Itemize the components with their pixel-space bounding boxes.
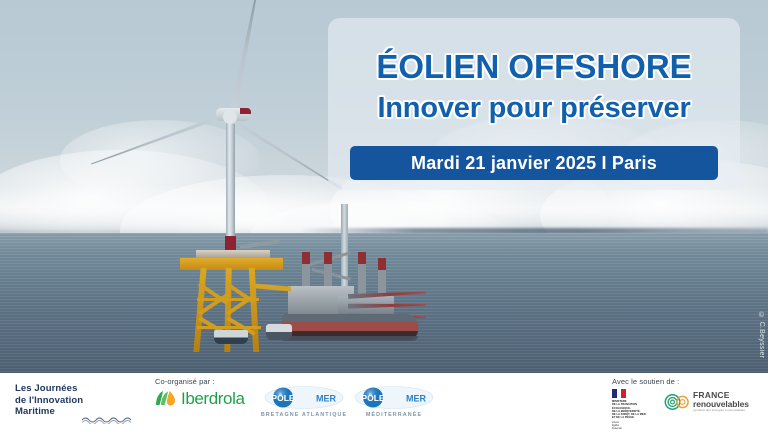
platform-crane-icon xyxy=(240,239,280,249)
svg-text:MER: MER xyxy=(316,394,337,404)
france-renouvelables-logo[interactable]: FRANCE renouvelables syndicat des énergi… xyxy=(664,391,749,412)
iberdrola-logo[interactable]: Iberdrola xyxy=(155,389,245,409)
pole-mer-region-label: MÉDITERRANÉE xyxy=(366,412,422,418)
france-renouvelables-wordmark: FRANCE renouvelables syndicat des énergi… xyxy=(693,391,749,412)
nacelle-marking xyxy=(240,108,251,114)
event-date-badge: Mardi 21 janvier 2025 I Paris xyxy=(350,146,718,180)
iberdrola-leaf-flame-icon xyxy=(155,389,177,409)
svg-text:PÔLE: PÔLE xyxy=(271,392,294,403)
ministry-logo[interactable]: MINISTÈRE DE LA TRANSITION ÉCOLOGIQUE, D… xyxy=(612,389,656,431)
event-banner: © C.Beyssier ÉOLIEN OFFSHORE Innover pou… xyxy=(0,0,768,432)
event-date-text: Mardi 21 janvier 2025 I Paris xyxy=(411,153,657,174)
turbine-blade xyxy=(227,116,343,190)
pole-mer-bretagne-logo[interactable]: PÔLE MER BRETAGNE ATLANTIQUE xyxy=(262,385,346,425)
organizer-line-3: Maritime xyxy=(15,406,83,418)
coorganiser-block: Co-organisé par : Iberdrola xyxy=(155,377,215,386)
title-panel: ÉOLIEN OFFSHORE Innover pour préserver M… xyxy=(328,18,740,190)
pole-mer-badge: PÔLE MER xyxy=(354,385,434,410)
jacket-leg xyxy=(249,268,259,352)
republic-motto: LibertéÉgalitéFraternité xyxy=(612,422,656,431)
support-block: Avec le soutien de : MINISTÈRE DE LA TRA… xyxy=(612,377,679,386)
fr-line-2: renouvelables xyxy=(693,400,749,409)
crew-transfer-vessel xyxy=(214,330,248,344)
wave-squiggle-icon xyxy=(82,416,134,424)
page-title: ÉOLIEN OFFSHORE xyxy=(328,48,740,86)
ministry-name: MINISTÈRE DE LA TRANSITION ÉCOLOGIQUE, D… xyxy=(612,400,656,420)
french-flag-icon xyxy=(612,389,626,398)
jacket-brace xyxy=(197,298,259,301)
pole-mer-droplet-icon: PÔLE MER xyxy=(264,385,344,410)
turbine-tower-band xyxy=(225,236,236,250)
pole-mer-region-label: BRETAGNE ATLANTIQUE xyxy=(261,412,347,418)
turbine-blade xyxy=(90,112,229,166)
organizer-logo[interactable]: Les Journées de l'Innovation Maritime xyxy=(15,383,83,418)
organizer-line-1: Les Journées xyxy=(15,383,83,395)
support-label: Avec le soutien de : xyxy=(612,377,679,386)
iberdrola-wordmark: Iberdrola xyxy=(181,389,245,409)
jacket-brace xyxy=(197,326,261,329)
svg-text:MER: MER xyxy=(406,394,427,404)
ministry-line: ET DE LA PÊCHE xyxy=(612,416,656,419)
turbine-blade xyxy=(229,0,259,117)
pole-mer-mediterranee-logo[interactable]: PÔLE MER MÉDITERRANÉE xyxy=(352,385,436,425)
organizer-line-2: de l'Innovation xyxy=(15,395,83,407)
photo-credit: © C.Beyssier xyxy=(758,312,765,358)
coorganiser-label: Co-organisé par : xyxy=(155,377,215,386)
infinity-loop-icon xyxy=(664,393,690,411)
fr-tagline: syndicat des énergies renouvelables xyxy=(693,409,749,412)
turbine-hub xyxy=(223,110,237,124)
svg-text:PÔLE: PÔLE xyxy=(361,392,384,403)
pole-mer-droplet-icon: PÔLE MER xyxy=(354,385,434,410)
pole-mer-badge: PÔLE MER xyxy=(264,385,344,410)
page-subtitle: Innover pour préserver xyxy=(328,92,740,125)
